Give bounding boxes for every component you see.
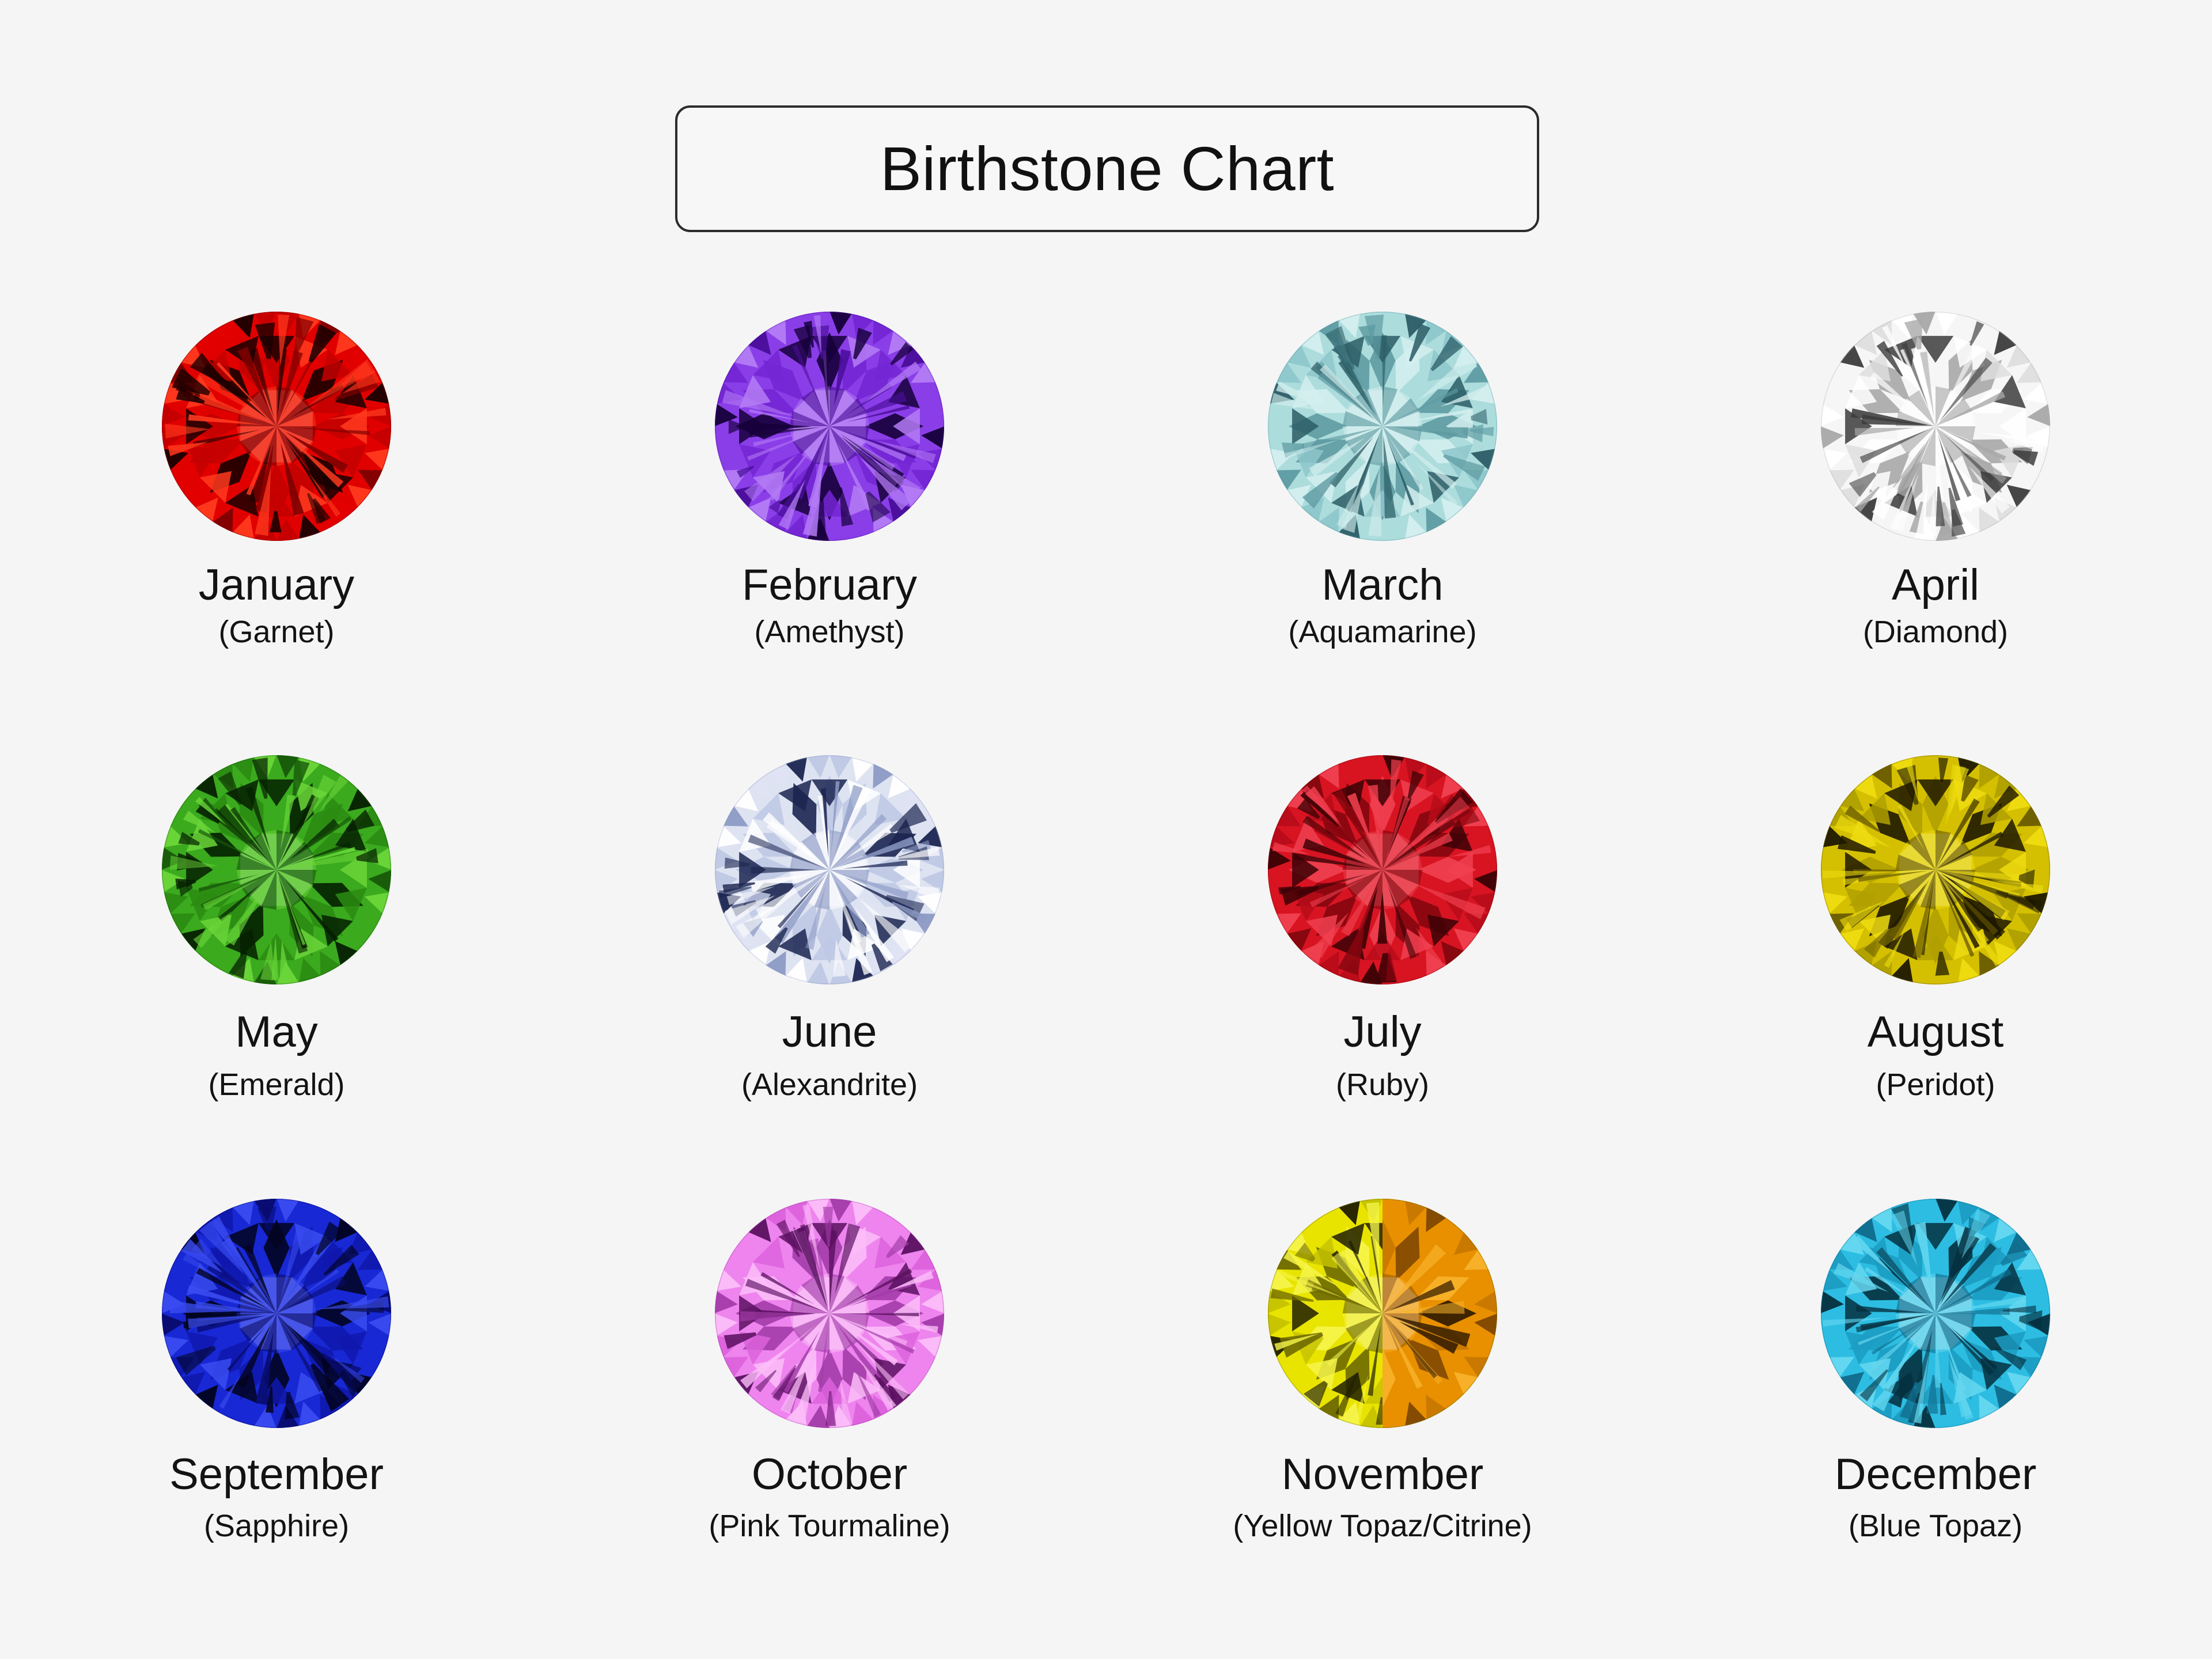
month-label: September (169, 1453, 384, 1497)
birthstone-cell-december[interactable]: December(Blue Topaz) (1659, 1187, 2212, 1624)
month-label: August (1868, 1010, 2004, 1054)
stone-label: (Pink Tourmaline) (709, 1510, 950, 1541)
title-container: Birthstone Chart (675, 105, 1539, 232)
birthstone-cell-september[interactable]: September(Sapphire) (0, 1187, 553, 1624)
month-label: May (235, 1010, 318, 1054)
month-label: December (1835, 1453, 2037, 1497)
pink-tourmaline-gem-icon (714, 1198, 945, 1429)
amethyst-gem-icon (714, 311, 945, 541)
sapphire-gem-icon (161, 1198, 392, 1429)
stone-label: (Amethyst) (754, 616, 904, 647)
birthstone-cell-october[interactable]: October(Pink Tourmaline) (553, 1187, 1106, 1624)
stone-label: (Peridot) (1876, 1069, 1995, 1100)
peridot-gem-icon (1820, 755, 2051, 985)
birthstone-cell-january[interactable]: January(Garnet) (0, 311, 553, 749)
yellow-topaz-citrine-gem-icon (1267, 1198, 1498, 1429)
garnet-gem-icon (161, 311, 392, 541)
blue-topaz-gem-icon (1820, 1198, 2051, 1429)
month-label: March (1321, 563, 1443, 607)
ruby-gem-icon (1267, 755, 1498, 985)
birthstone-cell-may[interactable]: May(Emerald) (0, 749, 553, 1187)
birthstone-grid: January(Garnet)February(Amethyst)March(A… (0, 311, 2212, 1624)
stone-label: (Blue Topaz) (1849, 1510, 2022, 1541)
stone-label: (Aquamarine) (1288, 616, 1476, 647)
title-box: Birthstone Chart (675, 105, 1539, 232)
month-label: April (1892, 563, 1979, 607)
aquamarine-gem-icon (1267, 311, 1498, 541)
birthstone-cell-april[interactable]: April(Diamond) (1659, 311, 2212, 749)
month-label: February (742, 563, 917, 607)
month-label: June (782, 1010, 877, 1054)
birthstone-cell-november[interactable]: November(Yellow Topaz/Citrine) (1106, 1187, 1659, 1624)
month-label: July (1343, 1010, 1421, 1054)
alexandrite-gem-icon (714, 755, 945, 985)
stone-label: (Sapphire) (204, 1510, 349, 1541)
stone-label: (Yellow Topaz/Citrine) (1233, 1510, 1532, 1541)
birthstone-cell-june[interactable]: June(Alexandrite) (553, 749, 1106, 1187)
month-label: November (1282, 1453, 1484, 1497)
stone-label: (Diamond) (1863, 616, 2008, 647)
stone-label: (Ruby) (1336, 1069, 1429, 1100)
month-label: October (752, 1453, 907, 1497)
stone-label: (Emerald) (208, 1069, 344, 1100)
birthstone-cell-march[interactable]: March(Aquamarine) (1106, 311, 1659, 749)
birthstone-cell-february[interactable]: February(Amethyst) (553, 311, 1106, 749)
stone-label: (Alexandrite) (741, 1069, 918, 1100)
birthstone-cell-august[interactable]: August(Peridot) (1659, 749, 2212, 1187)
page-title: Birthstone Chart (880, 138, 1334, 200)
emerald-gem-icon (161, 755, 392, 985)
month-label: January (199, 563, 354, 607)
stone-label: (Garnet) (218, 616, 334, 647)
diamond-gem-icon (1820, 311, 2051, 541)
birthstone-cell-july[interactable]: July(Ruby) (1106, 749, 1659, 1187)
